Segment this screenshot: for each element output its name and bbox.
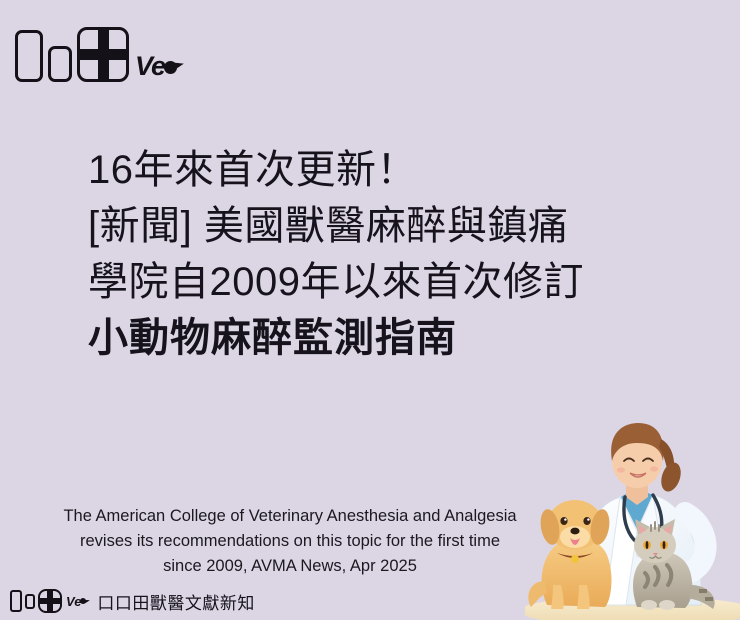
footer-tail-icon: [84, 598, 91, 603]
footer-cross-icon: [38, 589, 62, 613]
vet-figure: [577, 423, 706, 605]
logo-bar-tall-icon: [15, 30, 43, 82]
footer-bar-tall-icon: [10, 590, 22, 612]
logo-cross-icon: [77, 27, 129, 82]
cat-figure: [633, 519, 715, 610]
caption-line-3: since 2009, AVMA News, Apr 2025: [0, 554, 580, 579]
logo-cross-horizontal: [78, 49, 128, 60]
footer-wordmark: Ve: [66, 595, 90, 608]
footer-brand-text: 口口田獸醫文獻新知: [97, 589, 255, 614]
caption-line-2: revises its recommendations on this topi…: [0, 529, 580, 554]
brand-logo: Ve: [15, 22, 184, 82]
footer-cross-horizontal: [38, 598, 62, 604]
headline-line-1: 16年來首次更新！: [88, 142, 688, 198]
english-caption: The American College of Veterinary Anest…: [0, 504, 580, 579]
headline-line-2: [新聞] 美國獸醫麻醉與鎮痛: [88, 198, 688, 254]
logo-bar-short-icon: [48, 46, 72, 82]
logo-wordmark: Ve: [135, 53, 184, 80]
exam-table: [525, 596, 740, 620]
headline-line-3: 學院自2009年以來首次修訂: [88, 254, 688, 310]
footer-brand: Ve 口口田獸醫文獻新知: [10, 588, 255, 614]
footer-wordmark-text: Ve: [66, 595, 81, 608]
caption-line-1: The American College of Veterinary Anest…: [0, 504, 580, 529]
footer-bar-short-icon: [25, 594, 35, 609]
headline: 16年來首次更新！ [新聞] 美國獸醫麻醉與鎮痛 學院自2009年以來首次修訂 …: [88, 142, 688, 366]
logo-tail-icon: [172, 60, 185, 70]
logo-wordmark-text: Ve: [135, 53, 165, 80]
headline-line-4: 小動物麻醉監測指南: [88, 310, 688, 366]
poster-canvas: Ve 16年來首次更新！ [新聞] 美國獸醫麻醉與鎮痛 學院自2009年以來首次…: [0, 0, 740, 620]
